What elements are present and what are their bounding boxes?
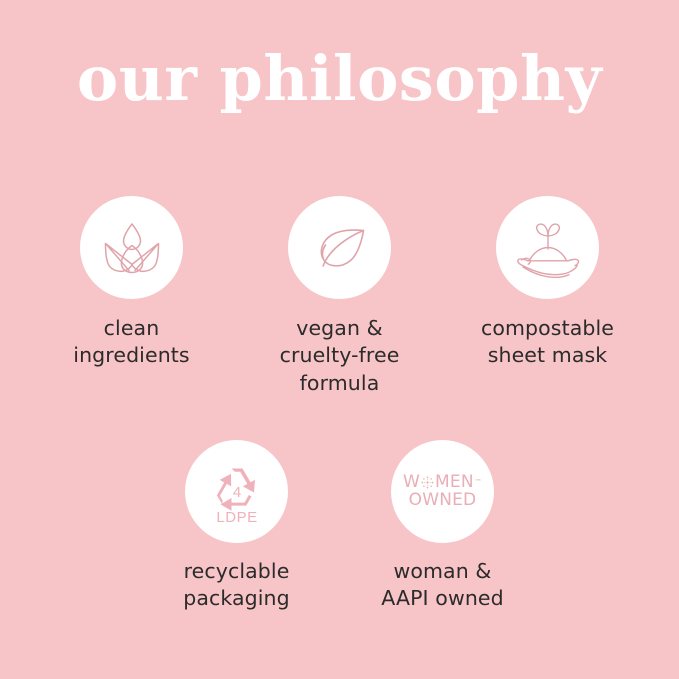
badge-caption: recyclable packaging bbox=[183, 558, 290, 613]
badge-caption: woman & AAPI owned bbox=[381, 558, 503, 613]
recycle-number: 4 bbox=[232, 484, 240, 501]
hand-holding-sprout-icon bbox=[509, 209, 587, 287]
icon-circle bbox=[80, 196, 183, 299]
badge-row-bottom: 4 LDPE recyclable packaging W bbox=[0, 440, 679, 613]
page-title: our philosophy bbox=[0, 48, 679, 110]
badge-clean-ingredients: clean ingredients bbox=[28, 196, 236, 397]
badge-caption: vegan & cruelty-free formula bbox=[280, 315, 400, 397]
badge-vegan-cruelty-free: vegan & cruelty-free formula bbox=[236, 196, 444, 397]
recycle-material-label: LDPE bbox=[216, 509, 257, 526]
droplet-leaves-icon bbox=[95, 211, 169, 285]
women-owned-w: W bbox=[403, 474, 420, 492]
badge-compostable-sheet-mask: compostable sheet mask bbox=[444, 196, 652, 397]
icon-circle bbox=[496, 196, 599, 299]
badge-caption: compostable sheet mask bbox=[481, 315, 614, 370]
philosophy-panel: our philosophy bbox=[0, 0, 679, 679]
recycling-ldpe-icon: 4 LDPE bbox=[201, 456, 273, 528]
women-owned-icon: W bbox=[403, 474, 482, 510]
badge-recyclable-packaging: 4 LDPE recyclable packaging bbox=[134, 440, 340, 613]
icon-circle: W bbox=[391, 440, 494, 543]
icon-circle: 4 LDPE bbox=[185, 440, 288, 543]
starburst-icon bbox=[420, 475, 435, 490]
badge-woman-aapi-owned: W bbox=[340, 440, 546, 613]
trademark-symbol: ™ bbox=[475, 479, 482, 486]
women-owned-line2: OWNED bbox=[403, 492, 482, 510]
icon-circle bbox=[288, 196, 391, 299]
leaf-icon bbox=[303, 211, 377, 285]
badge-row-top: clean ingredients vegan & cruelty-free f… bbox=[0, 196, 679, 397]
women-owned-men: MEN bbox=[435, 474, 474, 492]
badge-caption: clean ingredients bbox=[73, 315, 189, 370]
